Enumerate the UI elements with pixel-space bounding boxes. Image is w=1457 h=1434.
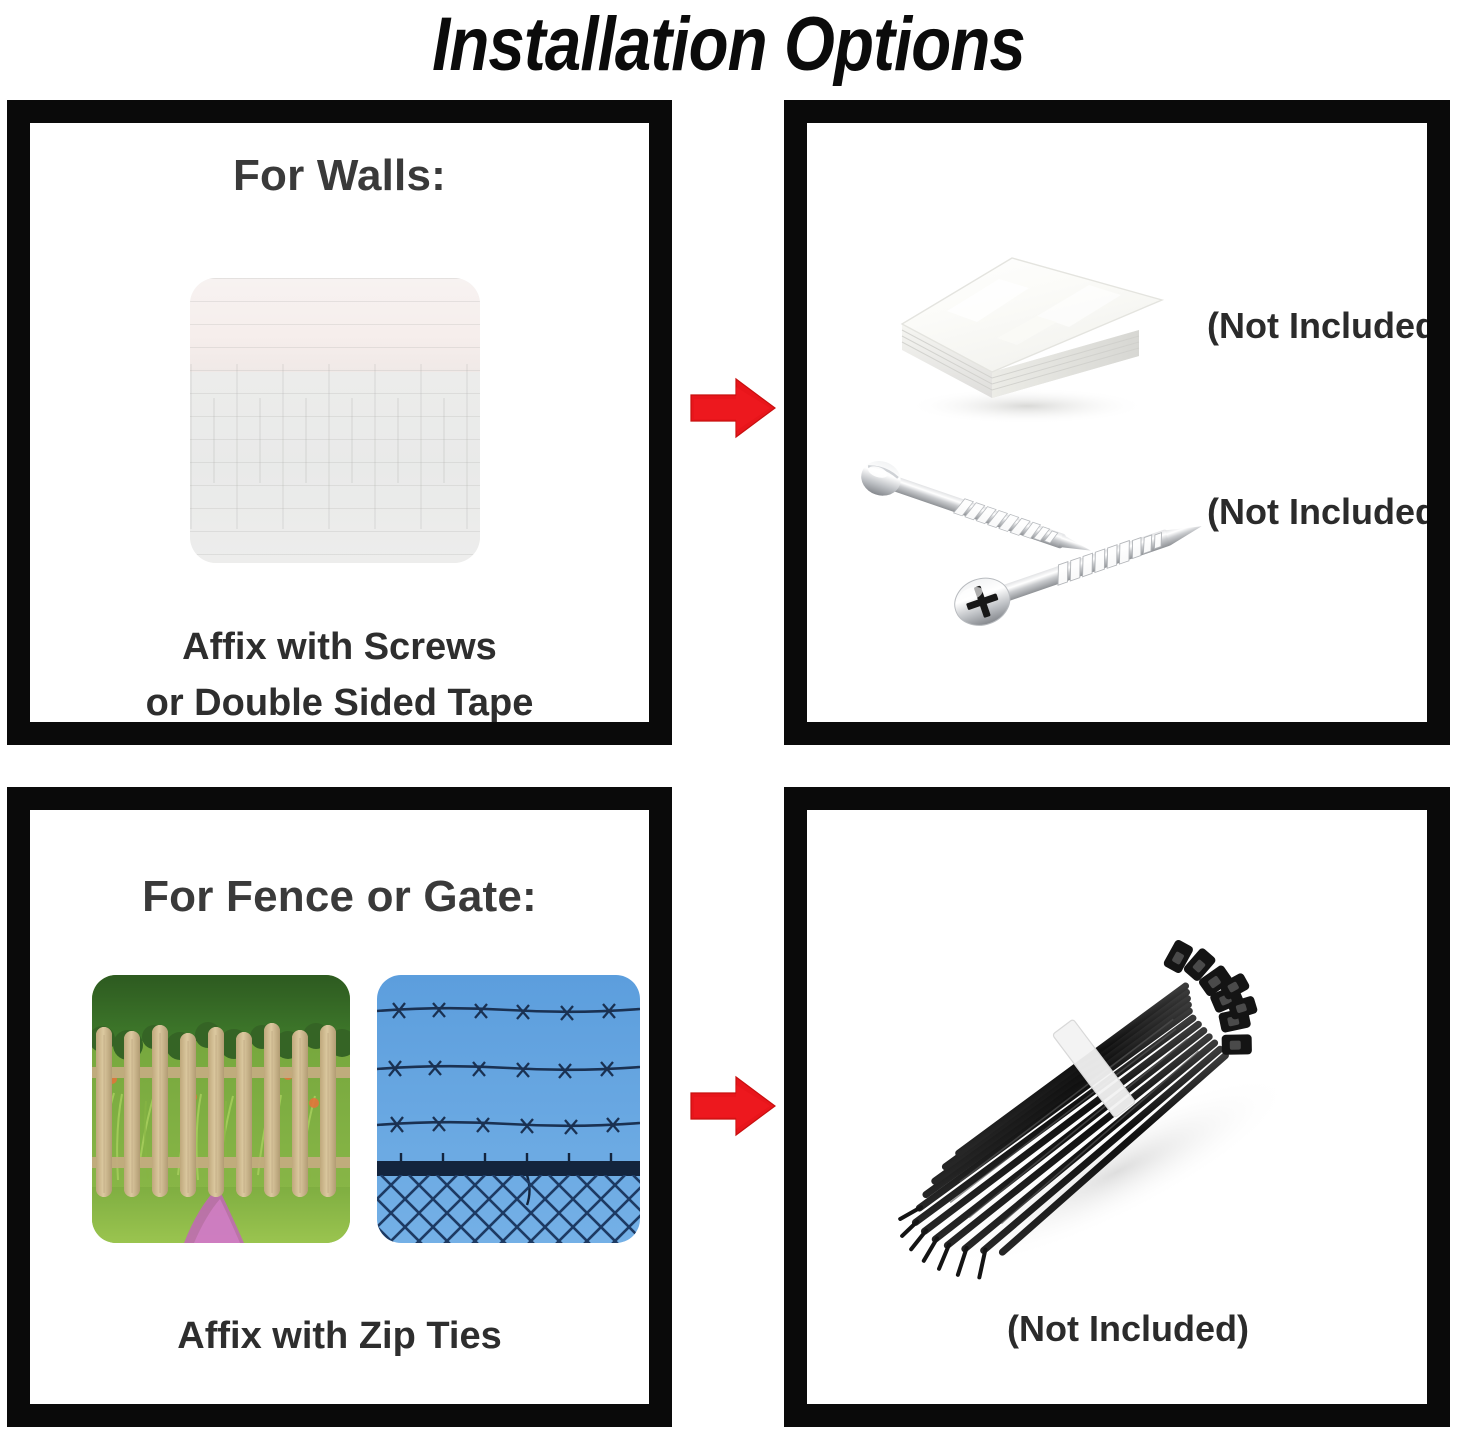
- panel-for-walls-heading: For Walls:: [30, 151, 649, 201]
- page-title: Installation Options: [102, 2, 1355, 88]
- panel-for-fence-caption: Affix with Zip Ties: [30, 1308, 649, 1364]
- panel-for-walls-caption-line2: or Double Sided Tape: [30, 675, 649, 722]
- red-right-arrow-icon-bottom: [688, 1073, 778, 1139]
- panel-for-fence-or-gate: For Fence or Gate:: [7, 787, 672, 1427]
- installation-options-infographic: Installation Options For Walls: Affix wi…: [0, 0, 1457, 1434]
- white-brick-wall-image: [190, 278, 480, 563]
- panel-for-walls-inner: For Walls: Affix with Screws or Double S…: [30, 123, 649, 722]
- panel-for-fence-heading: For Fence or Gate:: [30, 872, 649, 922]
- tape-not-included-label: (Not Included): [1207, 305, 1427, 347]
- panel-for-fence-or-gate-inner: For Fence or Gate:: [30, 810, 649, 1404]
- silver-wood-screws-image: [847, 443, 1207, 633]
- panel-for-walls: For Walls: Affix with Screws or Double S…: [7, 100, 672, 745]
- panel-zip-ties-inner: (Not Included): [807, 810, 1427, 1404]
- panel-wall-hardware-inner: (Not Included): [807, 123, 1427, 722]
- brick-vertical-joints-offset: [213, 398, 480, 484]
- panel-for-walls-caption-line1: Affix with Screws: [30, 619, 649, 675]
- panel-zip-ties: (Not Included): [784, 787, 1450, 1427]
- panel-wall-hardware: (Not Included): [784, 100, 1450, 745]
- zipties-not-included-label: (Not Included): [1007, 1308, 1249, 1350]
- red-right-arrow-icon-top: [688, 375, 778, 441]
- screws-not-included-label: (Not Included): [1207, 491, 1427, 533]
- barbed-wire-chain-link-photo: [377, 975, 640, 1243]
- wooden-picket-fence-photo: [92, 975, 350, 1243]
- double-sided-tape-stack-image: [877, 238, 1177, 433]
- black-zip-tie-bundle-image: [867, 920, 1337, 1310]
